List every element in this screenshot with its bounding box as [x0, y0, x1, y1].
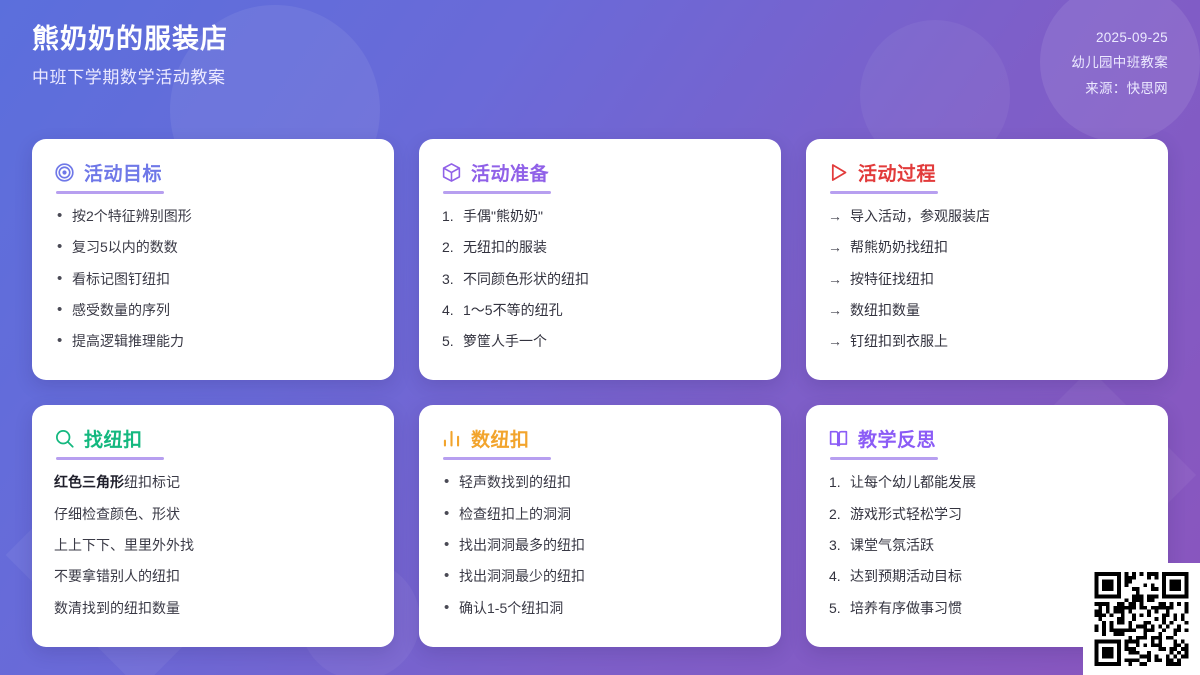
header-category: 幼儿园中班教案 [1071, 53, 1168, 73]
list-item-emphasis: 红色三角形 [54, 474, 124, 490]
title-underline [443, 457, 551, 460]
qr-code-image [1092, 572, 1191, 666]
card-title: 活动目标 [84, 159, 162, 186]
list-item: 上上下下、里里外外找 [54, 535, 372, 555]
card-header: 活动过程 [828, 159, 1146, 186]
qr-code[interactable] [1083, 563, 1200, 675]
list-item: 不要拿错别人的纽扣 [54, 566, 372, 586]
list-item-label: 仔细检查颜色、形状 [54, 506, 180, 522]
page-title: 熊奶奶的服装店 [32, 24, 228, 55]
header-date: 2025-09-25 [1096, 28, 1168, 48]
search-icon [54, 428, 75, 449]
list-item: 找出洞洞最少的纽扣 [441, 566, 759, 586]
list-item: 钉纽扣到衣服上 [828, 331, 1146, 351]
card-list: 按2个特征辨别图形复习5以内的数数看标记图钉纽扣感受数量的序列提高逻辑推理能力 [54, 206, 372, 351]
page-subtitle: 中班下学期数学活动教案 [32, 63, 228, 88]
list-item: 看标记图钉纽扣 [54, 269, 372, 289]
page-header: 熊奶奶的服装店 中班下学期数学活动教案 2025-09-25 幼儿园中班教案 来… [0, 0, 1200, 120]
header-source: 来源：快思网 [1085, 79, 1168, 99]
card-count-buttons[interactable]: 数纽扣轻声数找到的纽扣检查纽扣上的洞洞找出洞洞最多的纽扣找出洞洞最少的纽扣确认1… [419, 405, 781, 646]
card-list: 手偶"熊奶奶"无纽扣的服装不同颜色形状的纽扣1～5不等的纽孔箩筐人手一个 [441, 206, 759, 351]
list-item: 仔细检查颜色、形状 [54, 504, 372, 524]
card-header: 找纽扣 [54, 425, 372, 452]
list-item: 箩筐人手一个 [441, 331, 759, 351]
list-item: 感受数量的序列 [54, 300, 372, 320]
target-icon [54, 162, 75, 183]
list-item: 红色三角形纽扣标记 [54, 472, 372, 492]
card-title: 活动过程 [858, 159, 936, 186]
header-meta: 2025-09-25 幼儿园中班教案 来源：快思网 [1071, 24, 1168, 99]
card-list: 轻声数找到的纽扣检查纽扣上的洞洞找出洞洞最多的纽扣找出洞洞最少的纽扣确认1-5个… [441, 472, 759, 617]
list-item: 1～5不等的纽孔 [441, 300, 759, 320]
bar-chart-icon [441, 428, 462, 449]
card-process[interactable]: 活动过程导入活动，参观服装店帮熊奶奶找纽扣按特征找纽扣数纽扣数量钉纽扣到衣服上 [806, 139, 1168, 380]
play-triangle-icon [828, 162, 849, 183]
list-item: 课堂气氛活跃 [828, 535, 1146, 555]
card-header: 活动目标 [54, 159, 372, 186]
list-item: 数清找到的纽扣数量 [54, 598, 372, 618]
card-list: 导入活动，参观服装店帮熊奶奶找纽扣按特征找纽扣数纽扣数量钉纽扣到衣服上 [828, 206, 1146, 351]
list-item: 确认1-5个纽扣洞 [441, 598, 759, 618]
box-icon [441, 162, 462, 183]
title-underline [830, 457, 938, 460]
card-preparation[interactable]: 活动准备手偶"熊奶奶"无纽扣的服装不同颜色形状的纽扣1～5不等的纽孔箩筐人手一个 [419, 139, 781, 380]
list-item: 按特征找纽扣 [828, 269, 1146, 289]
list-item: 轻声数找到的纽扣 [441, 472, 759, 492]
header-left: 熊奶奶的服装店 中班下学期数学活动教案 [32, 24, 228, 88]
title-underline [56, 457, 164, 460]
list-item: 不同颜色形状的纽扣 [441, 269, 759, 289]
card-header: 活动准备 [441, 159, 759, 186]
list-item-label: 上上下下、里里外外找 [54, 537, 194, 553]
list-item: 检查纽扣上的洞洞 [441, 504, 759, 524]
list-item: 提高逻辑推理能力 [54, 331, 372, 351]
list-item: 游戏形式轻松学习 [828, 504, 1146, 524]
list-item: 帮熊奶奶找纽扣 [828, 237, 1146, 257]
card-header: 教学反思 [828, 425, 1146, 452]
list-item: 手偶"熊奶奶" [441, 206, 759, 226]
list-item-label: 数清找到的纽扣数量 [54, 600, 180, 616]
card-title: 活动准备 [471, 159, 549, 186]
card-header: 数纽扣 [441, 425, 759, 452]
list-item: 让每个幼儿都能发展 [828, 472, 1146, 492]
list-item: 按2个特征辨别图形 [54, 206, 372, 226]
list-item-label: 纽扣标记 [124, 474, 180, 490]
card-title: 数纽扣 [471, 425, 530, 452]
card-objectives[interactable]: 活动目标按2个特征辨别图形复习5以内的数数看标记图钉纽扣感受数量的序列提高逻辑推… [32, 139, 394, 380]
cards-grid: 活动目标按2个特征辨别图形复习5以内的数数看标记图钉纽扣感受数量的序列提高逻辑推… [32, 139, 1168, 647]
list-item: 无纽扣的服装 [441, 237, 759, 257]
card-find-buttons[interactable]: 找纽扣红色三角形纽扣标记仔细检查颜色、形状上上下下、里里外外找不要拿错别人的纽扣… [32, 405, 394, 646]
card-list: 红色三角形纽扣标记仔细检查颜色、形状上上下下、里里外外找不要拿错别人的纽扣数清找… [54, 472, 372, 617]
title-underline [443, 191, 551, 194]
list-item-label: 不要拿错别人的纽扣 [54, 568, 180, 584]
card-title: 找纽扣 [84, 425, 143, 452]
title-underline [830, 191, 938, 194]
list-item: 复习5以内的数数 [54, 237, 372, 257]
title-underline [56, 191, 164, 194]
list-item: 找出洞洞最多的纽扣 [441, 535, 759, 555]
open-book-icon [828, 428, 849, 449]
card-title: 教学反思 [858, 425, 936, 452]
list-item: 导入活动，参观服装店 [828, 206, 1146, 226]
list-item: 数纽扣数量 [828, 300, 1146, 320]
